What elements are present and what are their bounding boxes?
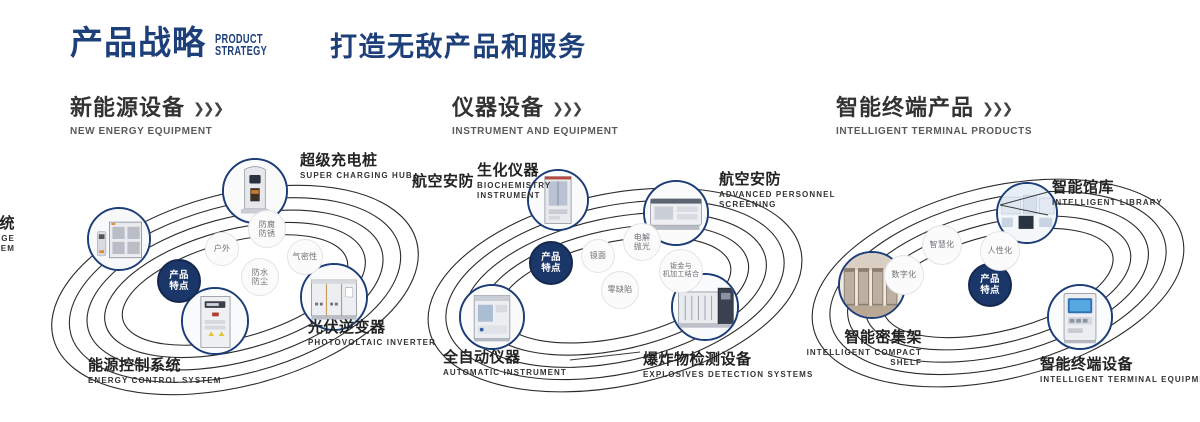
- label-super-charging-hub: 超级充电桩 SUPER CHARGING HUB: [300, 153, 413, 181]
- section-title-en: INSTRUMENT AND EQUIPMENT: [452, 126, 618, 137]
- label-intelligent-compact-shelf: 智能密集架 INTELLIGENT COMPACT SHELF: [742, 330, 922, 368]
- feature-bubble-intelligence[interactable]: 智慧化: [922, 225, 962, 265]
- label-en: INTELLIGENT COMPACT SHELF: [742, 348, 922, 368]
- label-automatic-instrument: 全自动仪器 AUTOMATIC INSTRUMENT: [443, 350, 567, 378]
- label-en: INTELLIGENT LIBRARY: [1052, 198, 1163, 208]
- label-cn: 超级充电桩: [300, 153, 413, 169]
- label-intelligent-library: 智能馆库 INTELLIGENT LIBRARY: [1052, 180, 1163, 208]
- feature-bubble-label: 钣金与 机加工结合: [663, 263, 700, 280]
- label-en: BIOCHEMISTRY INSTRUMENT: [477, 181, 551, 201]
- photo-intelligent-terminal-equipment[interactable]: [1047, 284, 1113, 350]
- feature-bubble-label: 防水 防尘: [252, 268, 269, 287]
- page-title: 产品战略 PRODUCT STRATEGY: [70, 26, 285, 59]
- label-cn: 智能终端设备: [1040, 357, 1200, 373]
- section-title-en: NEW ENERGY EQUIPMENT: [70, 126, 222, 137]
- section-title-new-energy: 新能源设备❯❯❯ NEW ENERGY EQUIPMENT: [70, 97, 222, 137]
- core-bubble-label: 产品 特点: [980, 274, 1000, 296]
- label-en: AUTOMATIC INSTRUMENT: [443, 368, 567, 378]
- label-en: ENERGY STORAGE SYSTEM: [0, 234, 15, 254]
- core-bubble-product-features[interactable]: 产品 特点: [529, 241, 573, 285]
- label-cn: 生化仪器: [477, 163, 551, 179]
- label-energy-control-system: 能源控制系统 ENERGY CONTROL SYSTEM: [88, 358, 222, 386]
- chevron-right-icon: ❯❯❯: [982, 100, 1011, 117]
- feature-bubble-waterproof-dustproof[interactable]: 防水 防尘: [241, 258, 279, 296]
- label-cn: 智能密集架: [742, 330, 922, 346]
- photo-automatic-instrument[interactable]: [459, 284, 525, 350]
- section-title-intelligent-terminal: 智能终端产品❯❯❯ INTELLIGENT TERMINAL PRODUCTS: [836, 97, 1032, 137]
- label-cn: 储能系统: [0, 216, 15, 232]
- feature-bubble-anticorrosion[interactable]: 防腐 防锈: [248, 210, 286, 248]
- feature-bubble-label: 户外: [214, 244, 231, 254]
- page-title-en: PRODUCT STRATEGY: [215, 33, 267, 57]
- feature-bubble-zero-defect[interactable]: 零缺陷: [601, 271, 639, 309]
- feature-bubble-label: 智慧化: [930, 240, 955, 250]
- label-en: SUPER CHARGING HUB: [300, 171, 413, 181]
- feature-bubble-outdoor[interactable]: 户外: [205, 232, 239, 266]
- feature-bubble-label: 防腐 防锈: [259, 220, 276, 239]
- label-intelligent-terminal-equipment: 智能终端设备 INTELLIGENT TERMINAL EQUIPMENT: [1040, 357, 1200, 385]
- label-energy-storage-system: 储能系统 ENERGY STORAGE SYSTEM: [0, 216, 15, 254]
- poster-canvas: 产品战略 PRODUCT STRATEGY 打造无敌产品和服务 新能源设备❯❯❯…: [0, 0, 1200, 422]
- feature-bubble-digitalization[interactable]: 数字化: [884, 255, 924, 295]
- core-bubble-product-features[interactable]: 产品 特点: [157, 259, 201, 303]
- control-cabinet-image: [183, 289, 247, 353]
- energy-storage-cabinet-image: [89, 209, 149, 269]
- feature-bubble-electropolishing[interactable]: 电解 抛光: [623, 223, 661, 261]
- section-title-cn: 新能源设备: [70, 97, 185, 119]
- feature-bubble-sheetmetal-machining[interactable]: 钣金与 机加工结合: [659, 249, 703, 293]
- label-cn: 航空安防: [412, 174, 474, 190]
- section-title-en: INTELLIGENT TERMINAL PRODUCTS: [836, 126, 1032, 137]
- automatic-analyzer-image: [461, 286, 523, 348]
- section-title-cn: 智能终端产品: [836, 97, 974, 119]
- label-cn: 全自动仪器: [443, 350, 567, 366]
- page-title-cn: 产品战略: [70, 26, 206, 59]
- label-en: ENERGY CONTROL SYSTEM: [88, 376, 222, 386]
- label-en: EXPLOSIVES DETECTION SYSTEMS: [643, 370, 813, 380]
- chevron-right-icon: ❯❯❯: [552, 100, 581, 117]
- label-en: INTELLIGENT TERMINAL EQUIPMENT: [1040, 375, 1200, 385]
- feature-bubble-label: 人性化: [988, 246, 1013, 256]
- feature-bubble-airtightness[interactable]: 气密性: [287, 239, 323, 275]
- terminal-kiosk-image: [1049, 286, 1111, 348]
- core-bubble-label: 产品 特点: [169, 270, 189, 292]
- label-cn: 智能馆库: [1052, 180, 1163, 196]
- feature-bubble-mirror-surface[interactable]: 镜面: [581, 239, 615, 273]
- label-biochemistry-instrument: 生化仪器 BIOCHEMISTRY INSTRUMENT: [477, 163, 551, 201]
- chevron-right-icon: ❯❯❯: [193, 100, 222, 117]
- label-cn: 能源控制系统: [88, 358, 222, 374]
- feature-bubble-label: 镜面: [590, 251, 607, 261]
- feature-bubble-label: 电解 抛光: [634, 233, 651, 252]
- section-title-cn: 仪器设备: [452, 97, 544, 119]
- feature-bubble-label: 气密性: [293, 252, 318, 262]
- feature-bubble-humanization[interactable]: 人性化: [980, 231, 1020, 271]
- photo-energy-storage-system[interactable]: [87, 207, 151, 271]
- label-aviation-security-left: 航空安防: [412, 174, 474, 190]
- feature-bubble-label: 零缺陷: [608, 285, 633, 295]
- page-subtitle: 打造无敌产品和服务: [330, 34, 587, 61]
- feature-bubble-label: 数字化: [892, 270, 917, 280]
- core-bubble-label: 产品 特点: [541, 252, 561, 274]
- section-title-instrument: 仪器设备❯❯❯ INSTRUMENT AND EQUIPMENT: [452, 97, 618, 137]
